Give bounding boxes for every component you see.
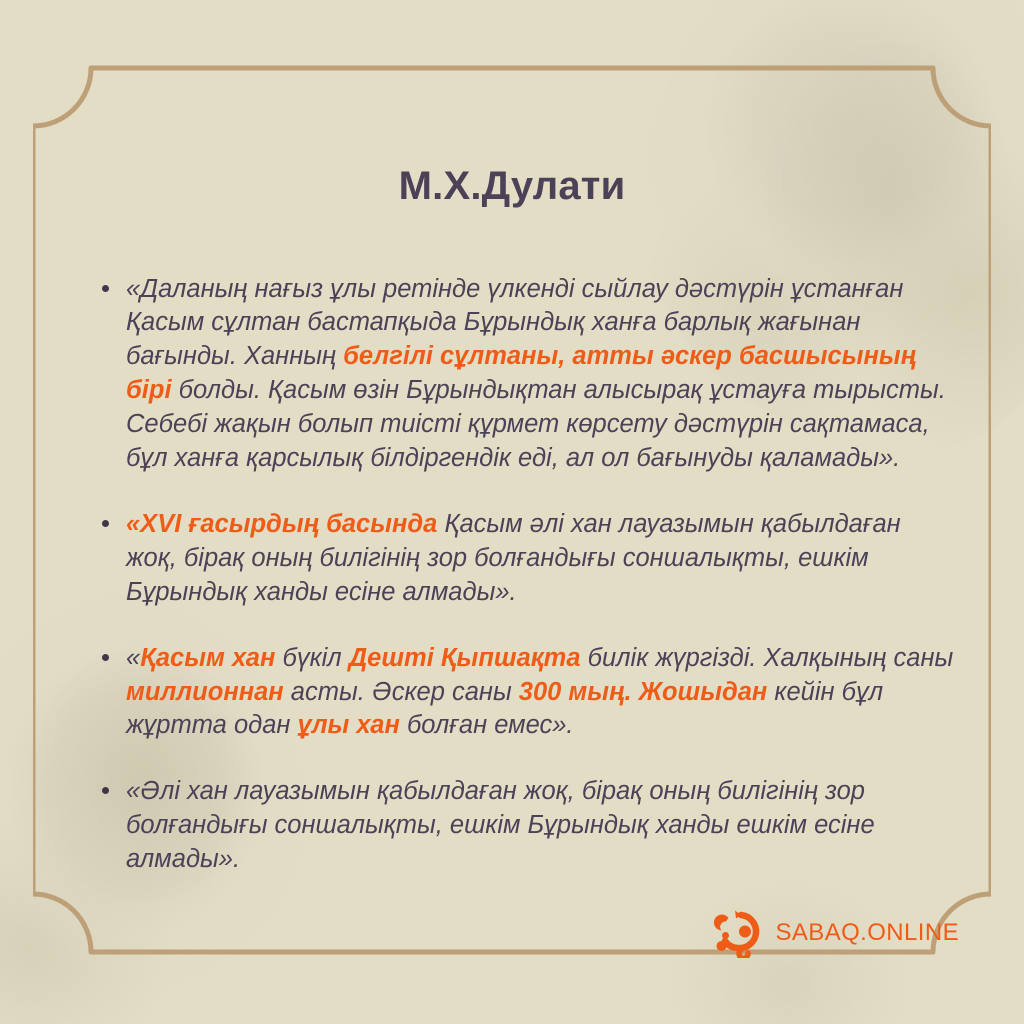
bullet-text-3-b-highlight: Қасым хан: [140, 644, 275, 672]
bullet-text-3-h-highlight: 300 мың. Жошыдан: [519, 678, 768, 706]
bullet-text-3-k: болған емес».: [400, 711, 574, 739]
list-item: «Қасым хан бүкіл Дешті Қыпшақта билік жү…: [96, 642, 956, 744]
bullet-text-1-c: болды. Қасым өзін Бұрындықтан алысырақ ұ…: [126, 376, 946, 472]
list-item: «Даланың нағыз ұлы ретінде үлкенді сыйла…: [96, 273, 956, 476]
bullet-text-3-e: билік жүргізді. Халқының саны: [581, 644, 954, 672]
bullet-dot-icon: [102, 285, 109, 292]
bullet-text-2-a-highlight: «XVI ғасырдың басында: [126, 510, 437, 538]
sabaq-spiral-mark-icon: [710, 908, 766, 958]
bullet-text-3-c: бүкіл: [275, 644, 348, 672]
bullet-dot-icon: [102, 520, 109, 527]
bullet-text-3-g: асты. Әскер саны: [284, 678, 519, 706]
bullet-text-4-a: «Әлі хан лауазымын қабылдаған жоқ, бірақ…: [126, 777, 875, 873]
bullet-list: «Даланың нағыз ұлы ретінде үлкенді сыйла…: [96, 247, 956, 877]
bullet-text-3-f-highlight: миллионнан: [126, 678, 284, 706]
logo-text: SABAQ.ONLINE: [775, 919, 959, 947]
slide-canvas: М.Х.Дулати «Даланың нағыз ұлы ретінде үл…: [0, 0, 1024, 1024]
bullet-text-3-d-highlight: Дешті Қыпшақта: [349, 644, 581, 672]
bullet-text-3-j-highlight: ұлы хан: [298, 711, 400, 739]
slide-content: М.Х.Дулати «Даланың нағыз ұлы ретінде үл…: [0, 0, 1024, 1024]
page-title: М.Х.Дулати: [0, 163, 1024, 209]
list-item: «XVI ғасырдың басында Қасым әлі хан лауа…: [96, 508, 956, 610]
sabaq-online-logo[interactable]: SABAQ.ONLINE: [710, 908, 959, 958]
list-item: «Әлі хан лауазымын қабылдаған жоқ, бірақ…: [96, 775, 956, 877]
bullet-dot-icon: [102, 654, 109, 661]
bullet-text-3-a: «: [126, 644, 140, 672]
bullet-dot-icon: [102, 787, 109, 794]
